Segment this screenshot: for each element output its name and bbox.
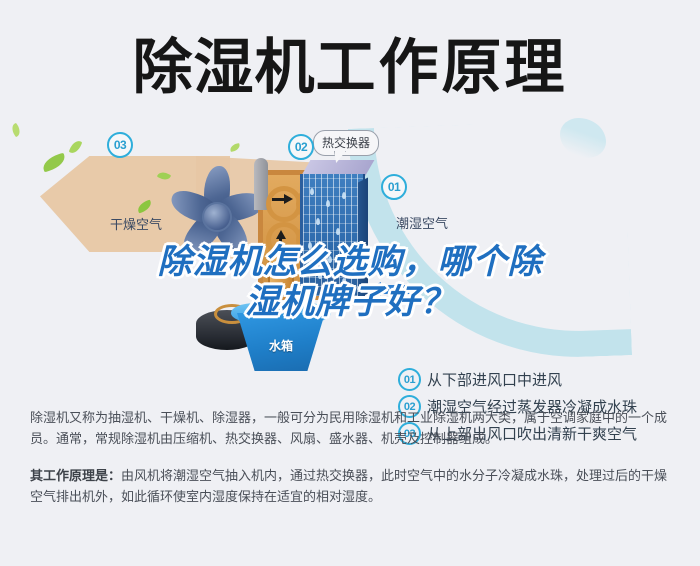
leaf-icon xyxy=(69,139,83,155)
leaf-icon xyxy=(229,143,240,152)
dry-air-label: 干燥空气 xyxy=(110,214,162,233)
water-droplet-icon xyxy=(336,228,340,235)
coil-cylinder xyxy=(268,250,294,294)
body-paragraph-2-rest: 由风机将潮湿空气抽入机内，通过热交换器，此时空气中的水分子冷凝成水珠，处理过后的… xyxy=(30,469,667,505)
leaf-icon xyxy=(41,153,68,173)
page-title: 除湿机工作原理 xyxy=(0,22,700,114)
article-image-canvas: 除湿机工作原理 xyxy=(0,0,700,566)
step-badge-03: 03 xyxy=(107,132,133,158)
heat-exchanger-side xyxy=(358,178,368,299)
water-droplet-icon xyxy=(316,218,320,225)
water-droplet-icon xyxy=(342,192,346,199)
water-tank-label: 水箱 xyxy=(231,337,331,354)
air-intake-arrow-icon xyxy=(366,282,418,296)
arrow-shaft xyxy=(380,285,418,294)
step-badge-01: 01 xyxy=(381,174,407,200)
fan-hub xyxy=(202,202,232,232)
step-row: 01 从下部进风口中进风 xyxy=(398,366,698,393)
humid-air-label: 潮湿空气 xyxy=(396,213,448,232)
heat-exchanger-callout: 热交换器 xyxy=(313,130,379,156)
body-paragraph-2-lead: 其工作原理是： xyxy=(30,469,121,484)
step-badge: 01 xyxy=(398,368,421,391)
water-droplet-icon xyxy=(342,278,346,285)
flow-arrow-up-icon xyxy=(276,230,286,239)
water-droplet-icon xyxy=(326,200,330,207)
water-droplet-icon xyxy=(346,248,350,255)
article-body: 除湿机又称为抽湿机、干燥机、除湿器，一般可分为民用除湿机和工业除湿机两大类，属于… xyxy=(30,408,670,524)
body-paragraph-1: 除湿机又称为抽湿机、干燥机、除湿器，一般可分为民用除湿机和工业除湿机两大类，属于… xyxy=(30,408,670,450)
title-part-2: 工作原理 xyxy=(316,33,568,103)
title-text: 除湿机工作原理 xyxy=(133,38,568,98)
leaf-icon xyxy=(9,123,22,137)
water-droplet-icon xyxy=(328,256,332,263)
title-part-1: 除湿机 xyxy=(133,33,316,103)
flow-arrow-right-icon xyxy=(284,194,293,204)
body-paragraph-2: 其工作原理是：由风机将潮湿空气抽入机内，通过热交换器，此时空气中的水分子冷凝成水… xyxy=(30,466,670,508)
arrow-head xyxy=(366,282,381,296)
dehumidifier-diagram: 水箱 热交换器 01 02 03 潮湿空气 干燥空气 01 从下部进风口中进风 … xyxy=(0,118,700,400)
heat-exchanger-block xyxy=(300,160,364,300)
water-droplet-icon xyxy=(310,188,314,195)
water-tank: 水箱 xyxy=(231,303,331,383)
step-badge-02: 02 xyxy=(288,134,314,160)
step-text: 从下部进风口中进风 xyxy=(427,369,562,390)
water-droplet-icon xyxy=(318,272,322,279)
water-droplet-icon xyxy=(308,242,312,249)
